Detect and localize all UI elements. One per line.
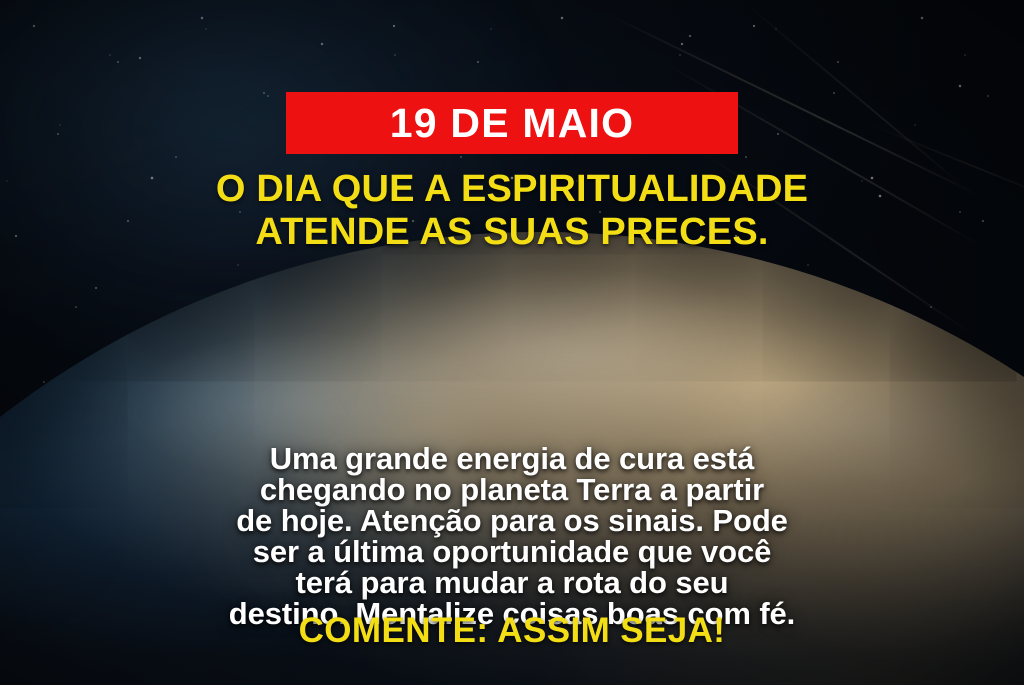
social-media-poster: 19 DE MAIO O DIA QUE A ESPIRITUALIDADE A… bbox=[0, 0, 1024, 685]
body-line-2: chegando no planeta Terra a partir bbox=[56, 474, 968, 505]
headline: O DIA QUE A ESPIRITUALIDADE ATENDE AS SU… bbox=[0, 168, 1024, 255]
body-paragraph: Uma grande energia de cura está chegando… bbox=[0, 443, 1024, 629]
headline-line-1: O DIA QUE A ESPIRITUALIDADE bbox=[36, 168, 988, 211]
body-line-4: ser a última oportunidade que você bbox=[56, 536, 968, 567]
date-banner: 19 DE MAIO bbox=[286, 92, 738, 154]
body-line-1: Uma grande energia de cura está bbox=[56, 443, 968, 474]
date-banner-label: 19 DE MAIO bbox=[390, 103, 634, 144]
headline-line-2: ATENDE AS SUAS PRECES. bbox=[36, 211, 988, 254]
poster-content: 19 DE MAIO O DIA QUE A ESPIRITUALIDADE A… bbox=[0, 0, 1024, 685]
body-line-5: terá para mudar a rota do seu bbox=[56, 567, 968, 598]
call-to-action-text: COMENTE: ASSIM SEJA! bbox=[0, 613, 1024, 648]
body-line-3: de hoje. Atenção para os sinais. Pode bbox=[56, 505, 968, 536]
